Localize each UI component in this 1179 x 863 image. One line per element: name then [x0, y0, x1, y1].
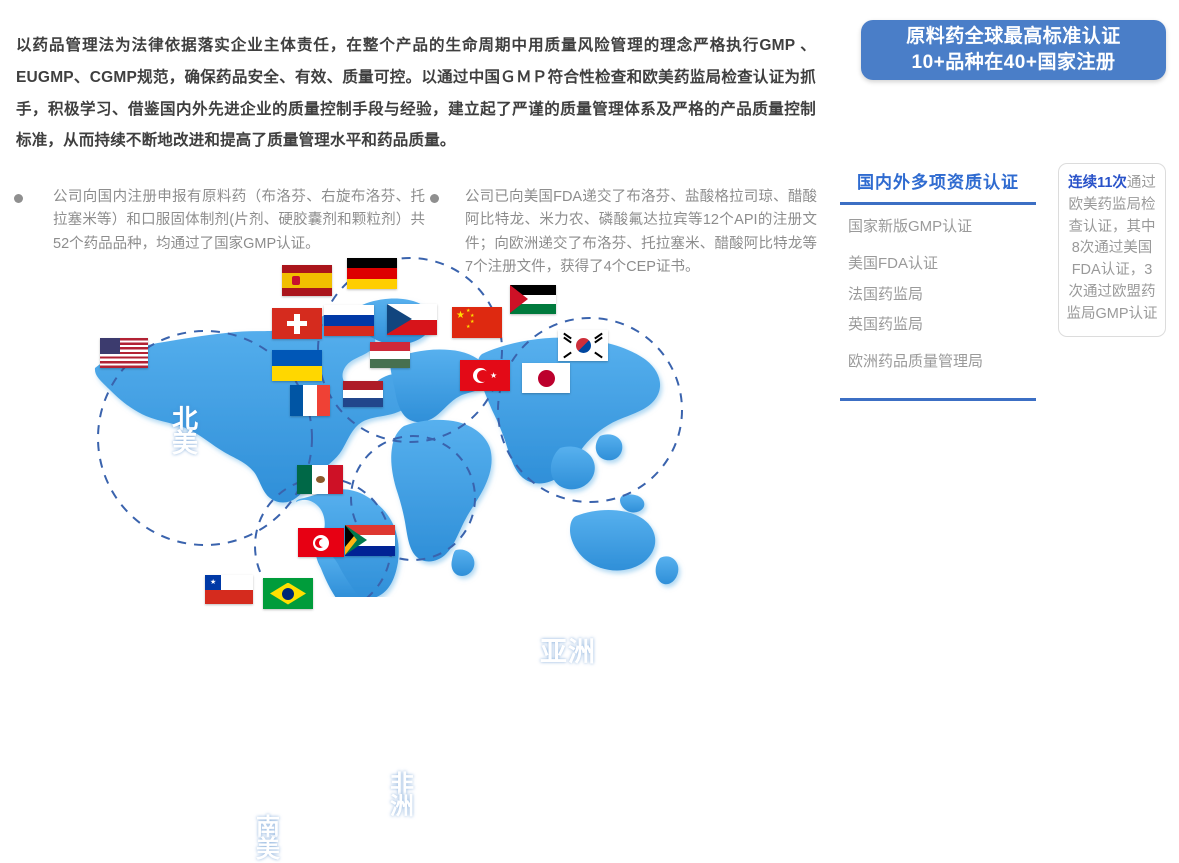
flag-chile: ★ [205, 575, 253, 604]
flag-jordan [510, 285, 556, 314]
flag-ukraine [272, 350, 322, 381]
flag-netherlands [343, 381, 383, 407]
bullet-item-domestic: 公司向国内注册申报有原料药（布洛芬、右旋布洛芬、托拉塞米等）和口服固体制剂(片剂… [14, 186, 426, 256]
region-label-south-america: 南美 [256, 817, 280, 861]
flag-spain [282, 265, 332, 296]
flag-russia [324, 305, 374, 336]
certifications-list: 国家新版GMP认证 美国FDA认证 法国药监局 英国药监局 欧洲药品质量管理局 [840, 205, 1036, 372]
highlight-rest-text: 通过欧美药监局检查认证，其中8次通过美国FDA认证，3次通过欧盟药监局GMP认证 [1066, 175, 1157, 322]
region-label-africa: 非洲 [390, 774, 414, 818]
flag-france [290, 385, 330, 416]
certification-item: 美国FDA认证 [848, 254, 1036, 274]
flag-china: ★ ★ ★ ★ ★ [452, 307, 502, 338]
certifications-title: 国内外多项资质认证 [840, 168, 1036, 193]
flag-tunisia [298, 528, 344, 557]
bullet-dot-icon [430, 194, 439, 203]
certification-item: 英国药监局 [848, 315, 1036, 335]
flag-mexico [297, 465, 343, 494]
intro-paragraph: 以药品管理法为法律依据落实企业主体责任，在整个产品的生命周期中用质量风险管理的理… [16, 30, 816, 157]
certification-item: 欧洲药品质量管理局 [848, 352, 1036, 372]
certification-item: 法国药监局 [848, 285, 1036, 305]
flag-germany [347, 258, 397, 289]
flag-japan [522, 363, 570, 393]
banner-line-2: 10+品种在40+国家注册 [912, 50, 1116, 76]
flag-switzerland [272, 308, 322, 339]
certification-item: 国家新版GMP认证 [848, 217, 1036, 237]
headline-banner: 原料药全球最高标准认证 10+品种在40+国家注册 [861, 20, 1166, 80]
banner-line-1: 原料药全球最高标准认证 [906, 24, 1121, 50]
highlight-box: 连续11次通过欧美药监局检查认证，其中8次通过美国FDA认证，3次通过欧盟药监局… [1058, 163, 1166, 337]
flag-czech-republic [387, 304, 437, 335]
flag-brazil [263, 578, 313, 609]
flag-south-korea [558, 330, 608, 361]
region-label-asia: 亚洲 [540, 630, 596, 669]
divider-bottom [840, 398, 1036, 401]
bullet-dot-icon [14, 194, 23, 203]
flag-hungary [370, 342, 410, 368]
certifications-panel: 国内外多项资质认证 国家新版GMP认证 美国FDA认证 法国药监局 英国药监局 … [840, 168, 1036, 401]
infographic-page: 以药品管理法为法律依据落实企业主体责任，在整个产品的生命周期中用质量风险管理的理… [0, 0, 1179, 597]
world-map: 北美 南美 非洲 亚洲 ★ [60, 250, 700, 597]
bullet-text: 公司向国内注册申报有原料药（布洛芬、右旋布洛芬、托拉塞米等）和口服固体制剂(片剂… [53, 186, 425, 256]
flag-united-states [100, 338, 148, 368]
highlight-bold-text: 连续11次 [1068, 175, 1127, 191]
flag-south-africa [345, 525, 395, 556]
flag-turkey: ★ [460, 360, 510, 391]
